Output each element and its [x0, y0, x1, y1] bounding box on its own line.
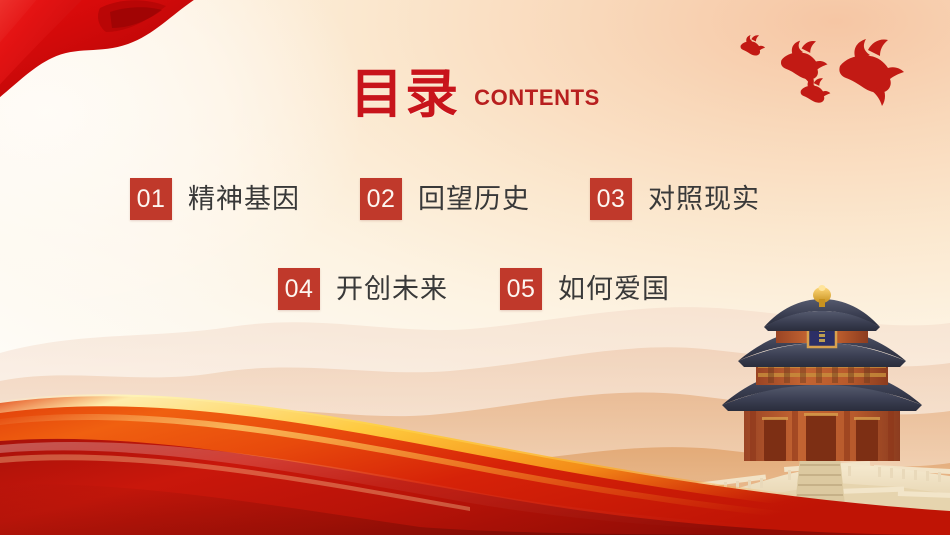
contents-menu: 01 精神基因 02 回望历史 03 对照现实 04 开创未来 05 如何爱国 [0, 178, 950, 310]
contents-item-number-03: 03 [590, 178, 632, 220]
contents-item-label-03: 对照现实 [648, 186, 760, 213]
page-title-cn: 目录 [350, 68, 460, 121]
contents-item-number-01: 01 [130, 178, 172, 220]
contents-item-label-04: 开创未来 [336, 276, 448, 303]
contents-item-number-04: 04 [278, 268, 320, 310]
contents-item-number-05: 05 [500, 268, 542, 310]
contents-item-01[interactable]: 01 精神基因 [130, 178, 300, 220]
red-silk-ribbon [0, 345, 950, 535]
contents-menu-row-2: 04 开创未来 05 如何爱国 [0, 268, 950, 310]
contents-slide: 目录 CONTENTS 01 精神基因 02 回望历史 03 对照现实 04 开… [0, 0, 950, 535]
page-title-en: CONTENTS [474, 85, 600, 111]
contents-item-03[interactable]: 03 对照现实 [590, 178, 760, 220]
contents-item-label-05: 如何爱国 [558, 276, 670, 303]
contents-item-label-01: 精神基因 [188, 186, 300, 213]
contents-item-02[interactable]: 02 回望历史 [360, 178, 530, 220]
contents-item-04[interactable]: 04 开创未来 [278, 268, 448, 310]
contents-item-number-02: 02 [360, 178, 402, 220]
peace-doves-icon [734, 18, 914, 110]
contents-menu-row-1: 01 精神基因 02 回望历史 03 对照现实 [0, 178, 950, 220]
contents-item-label-02: 回望历史 [418, 186, 530, 213]
red-silk-flag [0, 0, 290, 140]
contents-item-05[interactable]: 05 如何爱国 [500, 268, 670, 310]
